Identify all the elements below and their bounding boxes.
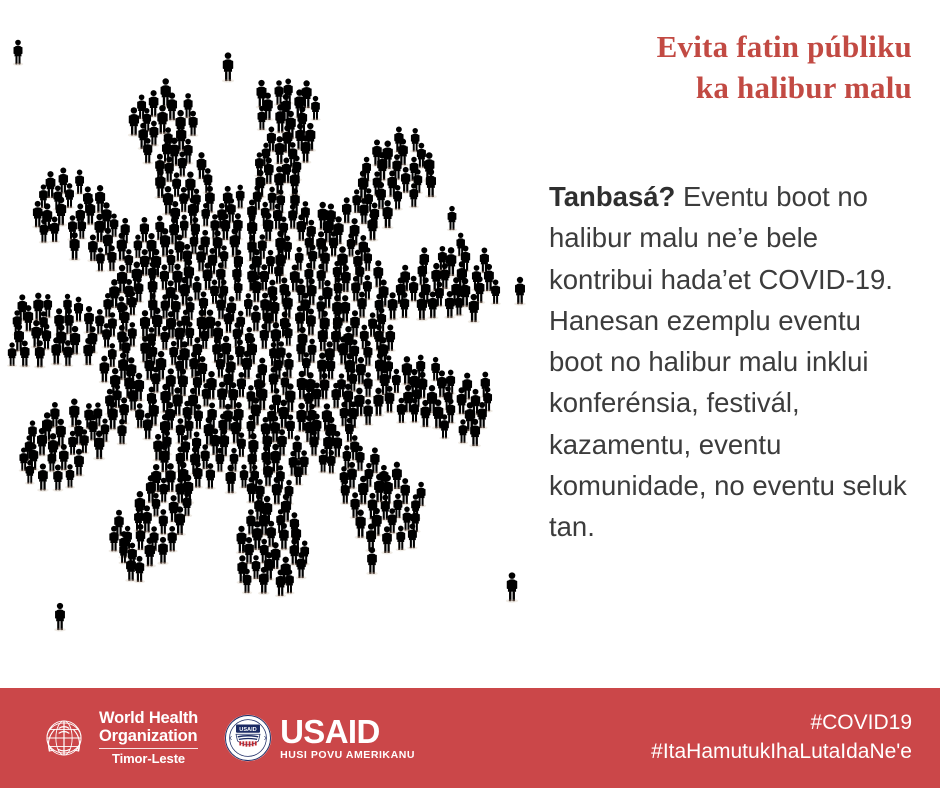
hashtag-block: #COVID19 #ItaHamutukIhaLutaIdaNe'e <box>651 709 912 767</box>
svg-text:USAID: USAID <box>239 727 256 733</box>
who-wordmark: World Health Organization Timor-Leste <box>99 710 198 766</box>
usaid-logo: USAID <box>224 714 415 762</box>
crowd-illustration-svg: .c-terra .torso { fill:#c0563f; } .c-ter… <box>0 0 530 680</box>
body-paragraph: Tanbasá? Eventu boot no halibur malu ne’… <box>549 176 921 547</box>
who-line-1: World Health <box>99 710 198 728</box>
footer-bar: World Health Organization Timor-Leste US… <box>0 688 940 788</box>
body-text: Eventu boot no halibur malu ne’e bele ko… <box>549 181 907 542</box>
crowd-figures <box>7 40 526 632</box>
who-line-2: Organization <box>99 728 198 746</box>
usaid-tagline: HUSI POVU AMERIKANU <box>280 750 415 761</box>
hashtag-campaign: #ItaHamutukIhaLutaIdaNe'e <box>651 738 912 767</box>
page-title: Evita fatin públiku ka halibur malu <box>512 26 912 108</box>
usaid-name: USAID <box>280 715 415 748</box>
who-emblem-icon <box>38 712 90 764</box>
who-divider <box>99 748 198 749</box>
crowd-coronavirus-illustration: .c-terra .torso { fill:#c0563f; } .c-ter… <box>0 0 530 680</box>
usaid-seal-icon: USAID <box>224 714 272 762</box>
footer-logo-group: World Health Organization Timor-Leste US… <box>0 710 415 766</box>
who-logo: World Health Organization Timor-Leste <box>38 710 198 766</box>
headline-line-2: ka halibur malu <box>512 67 912 108</box>
who-country-label: Timor-Leste <box>99 752 198 766</box>
hashtag-covid19: #COVID19 <box>651 709 912 738</box>
poster-canvas: .c-terra .torso { fill:#c0563f; } .c-ter… <box>0 0 940 788</box>
headline-line-1: Evita fatin públiku <box>512 26 912 67</box>
body-lead-question: Tanbasá? <box>549 181 675 212</box>
usaid-wordmark: USAID HUSI POVU AMERIKANU <box>280 715 415 761</box>
